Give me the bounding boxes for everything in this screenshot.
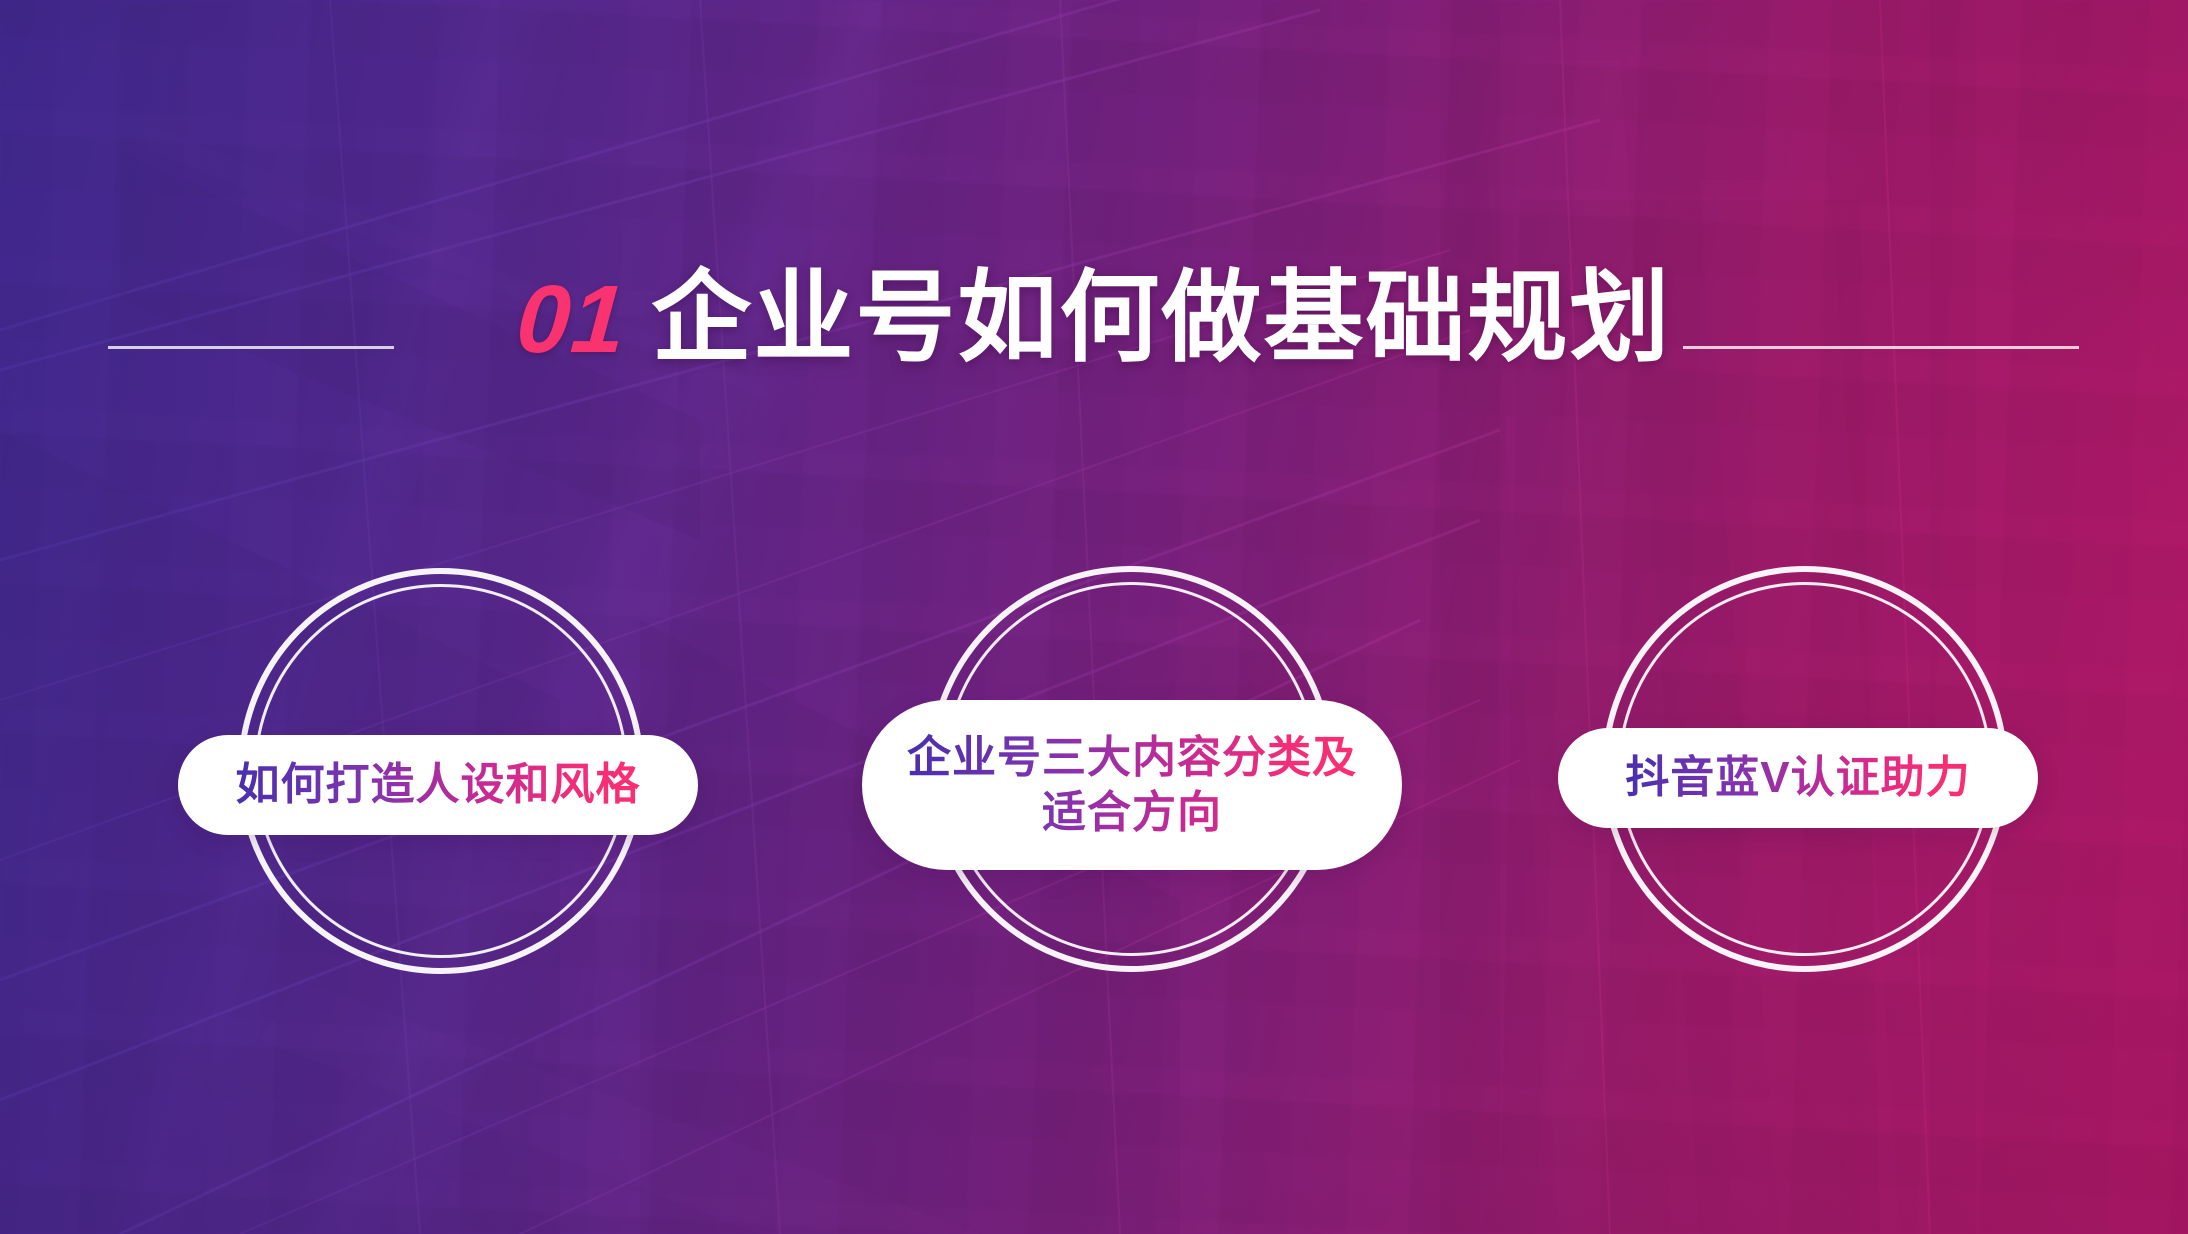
page-title: 企业号如何做基础规划: [651, 268, 1671, 368]
topic-pill-3-label: 抖音蓝V认证助力: [1625, 750, 1970, 805]
slide-canvas: 01 企业号如何做基础规划 如何打造人设和风格 企业号三大内容分类及 适合方向 …: [0, 0, 2188, 1234]
topic-pill-1-label: 如何打造人设和风格: [236, 757, 641, 812]
topic-pill-3[interactable]: 抖音蓝V认证助力: [1558, 728, 2038, 828]
section-title-row: 01 企业号如何做基础规划: [0, 268, 2188, 388]
section-number: 01: [513, 272, 628, 368]
topic-pill-1[interactable]: 如何打造人设和风格: [178, 735, 698, 835]
topic-pill-2[interactable]: 企业号三大内容分类及 适合方向: [862, 700, 1402, 870]
topic-pill-2-label: 企业号三大内容分类及 适合方向: [907, 730, 1357, 841]
section-title-group: 01 企业号如何做基础规划: [0, 268, 2188, 368]
